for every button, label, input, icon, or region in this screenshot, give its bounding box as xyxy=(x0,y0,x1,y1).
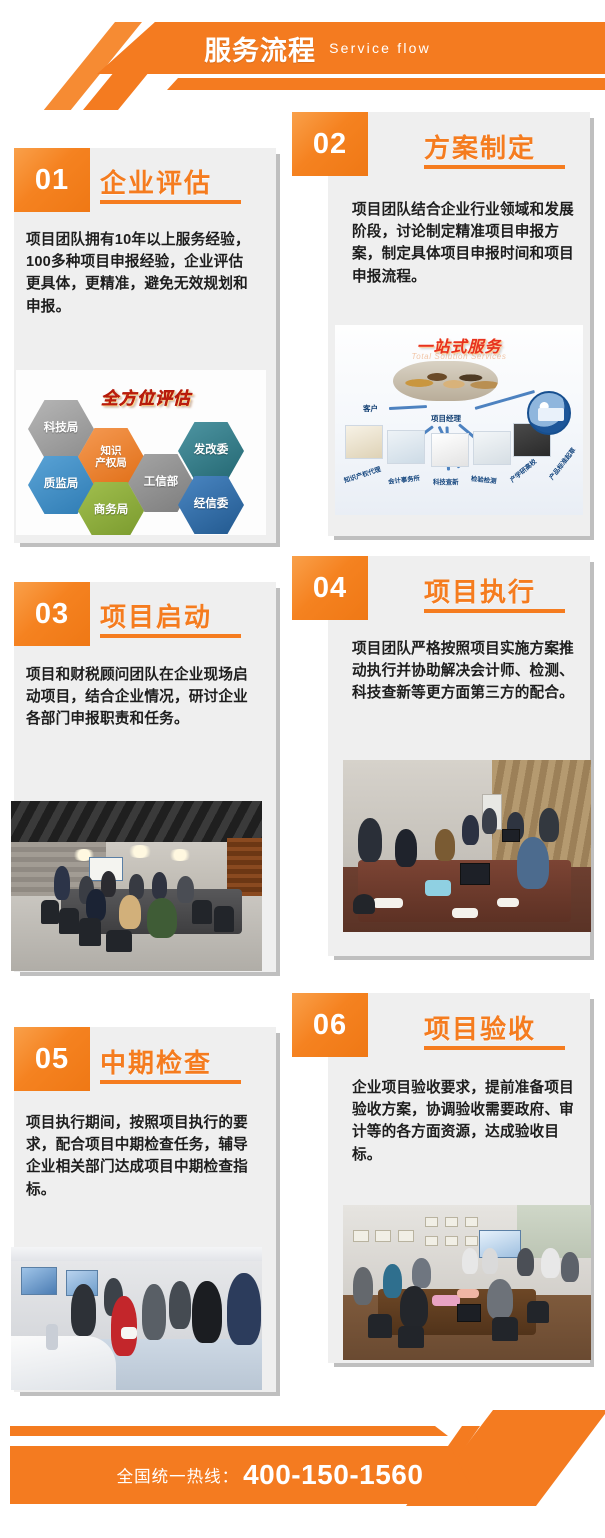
footer-hotline-number[interactable]: 400-150-1560 xyxy=(243,1459,423,1491)
oss-center-label: 项目经理 xyxy=(431,413,461,424)
step-body-05: 项目执行期间，按照项目执行的要求，配合项目中期检查任务，辅导企业相关部门达成项目… xyxy=(26,1112,253,1201)
oss-node-label-2: 会计事务所 xyxy=(388,473,421,486)
one-stop-service-diagram: 一站式服务 Total Solution Services 客户 项目经理 知识… xyxy=(335,325,583,515)
step-body-06: 企业项目验收要求，提前准备项目验收方案，协调验收需要政府、审计等的各方面资源，达… xyxy=(352,1077,575,1166)
oss-subtitle: Total Solution Services xyxy=(335,352,583,361)
step-title-rule-05 xyxy=(100,1080,241,1084)
footer-hotline-label: 全国统一热线： xyxy=(117,1463,240,1487)
oss-node-label-5: 产学研高校 xyxy=(508,457,538,484)
step-body-02: 项目团队结合企业行业领域和发展阶段，讨论制定精准项目申报方案，制定具体项目申报时… xyxy=(352,199,575,288)
oss-arrow-1 xyxy=(389,405,427,410)
oss-node-label-1: 知识产权代理 xyxy=(343,464,382,484)
photo-conference-room xyxy=(11,801,262,971)
step-body-01: 项目团队拥有10年以上服务经验，100多种项目申报经验，企业评估更具体，更精准，… xyxy=(26,229,253,318)
oss-hero-photo xyxy=(393,361,498,401)
step-title-rule-01 xyxy=(100,200,241,204)
step-title-rule-02 xyxy=(424,165,565,169)
photo-site-visit xyxy=(11,1247,262,1390)
step-title-02: 方案制定 xyxy=(424,128,536,165)
hex-node-fagai: 发改委 xyxy=(178,422,244,480)
step-title-rule-06 xyxy=(424,1046,565,1050)
oss-node-4 xyxy=(473,431,511,465)
step-title-rule-03 xyxy=(100,634,241,638)
oss-node-label-6: 产品标准起草 xyxy=(547,446,578,482)
photo-acceptance-meeting xyxy=(343,1205,591,1360)
step-number-badge-05: 05 xyxy=(14,1027,90,1091)
page-footer: 全国统一热线： 400-150-1560 xyxy=(0,1388,605,1538)
step-number-badge-02: 02 xyxy=(292,112,368,176)
oss-customer-label: 客户 xyxy=(363,403,378,414)
step-number-badge-03: 03 xyxy=(14,582,90,646)
oss-node-2 xyxy=(387,430,425,464)
step-title-05: 中期检查 xyxy=(100,1043,212,1080)
service-flow-infographic: 服务流程 Service flow 01 企业评估 项目团队拥有10年以上服务经… xyxy=(0,0,605,1538)
oss-certification-seal-icon xyxy=(527,391,571,435)
hexagon-diagram: 全方位评估 全方位评估 科技局 知识产权局 发改委 质监局 工信部 商务局 经信… xyxy=(16,370,266,535)
header-title-group: 服务流程 Service flow xyxy=(0,22,605,74)
hex-title: 全方位评估 xyxy=(101,384,191,409)
oss-node-1 xyxy=(345,425,383,459)
page-subtitle: Service flow xyxy=(329,40,431,56)
oss-node-label-4: 检验检测 xyxy=(471,474,497,486)
step-body-04: 项目团队严格按照项目实施方案推动执行并协助解决会计师、检测、科技查新等更方面第三… xyxy=(352,638,575,705)
step-number-badge-01: 01 xyxy=(14,148,90,212)
step-title-rule-04 xyxy=(424,609,565,613)
step-title-01: 企业评估 xyxy=(100,163,212,200)
footer-hotline: 全国统一热线： 400-150-1560 xyxy=(0,1446,540,1504)
step-title-03: 项目启动 xyxy=(100,597,212,634)
step-title-04: 项目执行 xyxy=(424,572,536,609)
step-number-badge-06: 06 xyxy=(292,993,368,1057)
step-number-badge-04: 04 xyxy=(292,556,368,620)
page-title: 服务流程 xyxy=(204,29,316,68)
photo-working-meeting xyxy=(343,760,591,932)
oss-node-3 xyxy=(431,433,469,467)
page-header: 服务流程 Service flow xyxy=(0,0,605,110)
step-body-03: 项目和财税顾问团队在企业现场启动项目，结合企业情况，研讨企业各部门申报职责和任务… xyxy=(26,664,253,731)
step-title-06: 项目验收 xyxy=(424,1009,536,1046)
oss-node-label-3: 科技查新 xyxy=(433,477,459,486)
